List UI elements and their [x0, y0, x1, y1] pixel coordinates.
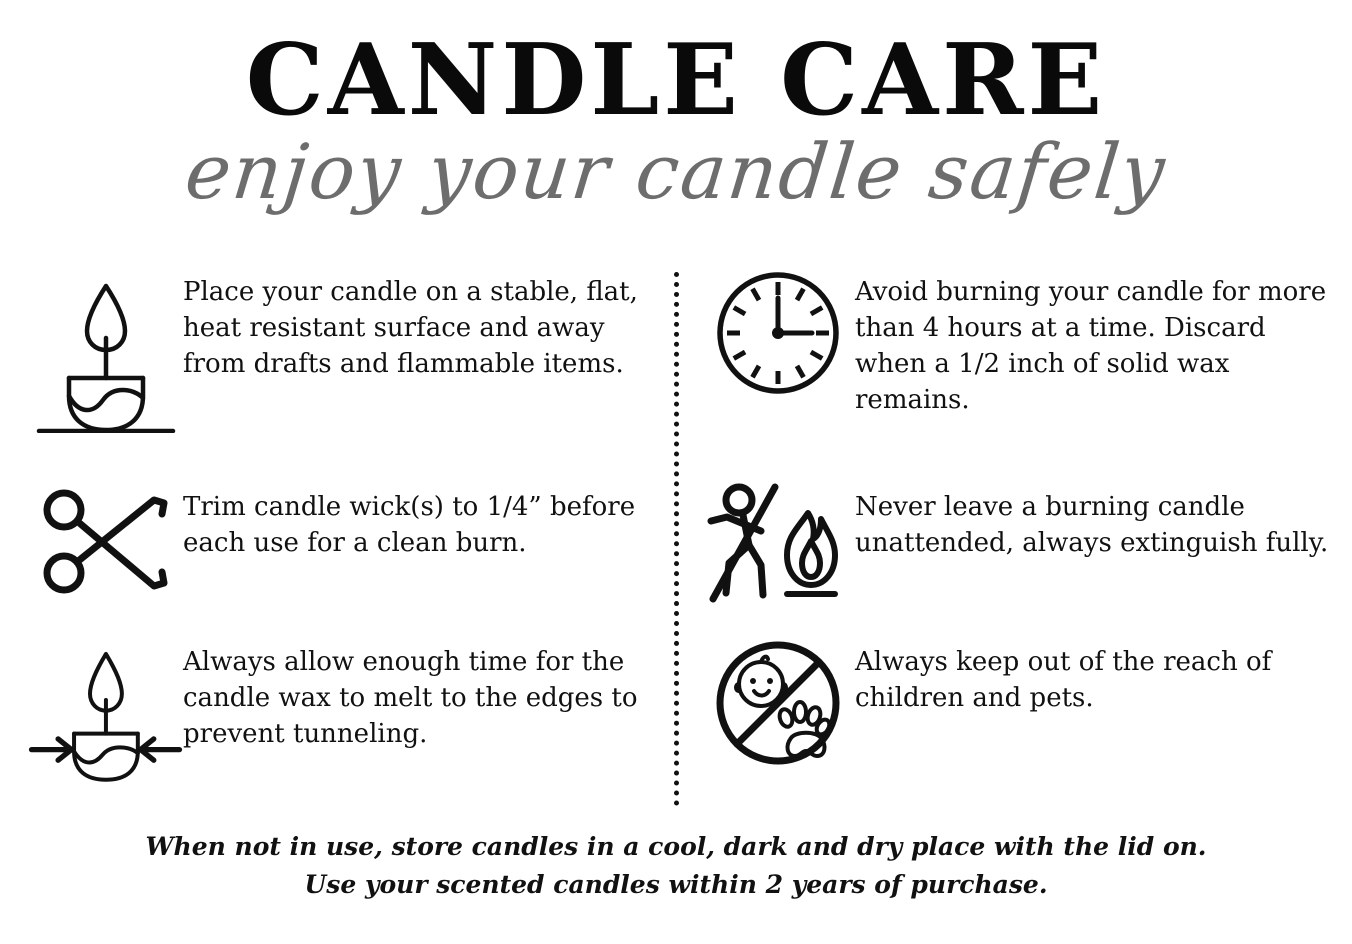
footer-line-1: When not in use, store candles in a cool… — [0, 828, 1352, 866]
tip-item: Always keep out of the reach of children… — [700, 638, 1340, 768]
tip-text: Place your candle on a stable, flat, hea… — [183, 268, 668, 382]
tip-text: Trim candle wick(s) to 1/4” before each … — [183, 483, 668, 561]
tip-item: Never leave a burning candle unattended,… — [700, 483, 1340, 603]
footer: When not in use, store candles in a cool… — [0, 828, 1352, 904]
candle-full-melt-arrows-icon — [28, 638, 183, 793]
tip-item: Avoid burning your candle for more than … — [700, 268, 1340, 418]
tips-section: Place your candle on a stable, flat, hea… — [0, 268, 1352, 808]
tip-text: Always keep out of the reach of children… — [855, 638, 1340, 716]
candle-care-infographic: CANDLE CARE enjoy your candle safely — [0, 0, 1352, 944]
scissors-icon — [28, 483, 183, 603]
candle-on-surface-icon — [28, 268, 183, 433]
page-title: CANDLE CARE — [0, 30, 1352, 133]
tip-text: Always allow enough time for the candle … — [183, 638, 668, 752]
person-leaving-fire-icon — [700, 483, 855, 603]
no-children-pets-icon — [700, 638, 855, 768]
footer-line-2: Use your scented candles within 2 years … — [0, 866, 1352, 904]
tip-text: Avoid burning your candle for more than … — [855, 268, 1340, 418]
tip-item: Always allow enough time for the candle … — [28, 638, 668, 793]
header: CANDLE CARE enjoy your candle safely — [0, 0, 1352, 250]
tip-item: Trim candle wick(s) to 1/4” before each … — [28, 483, 668, 603]
tips-column-right: Avoid burning your candle for more than … — [700, 268, 1340, 808]
clock-icon — [700, 268, 855, 398]
tips-column-left: Place your candle on a stable, flat, hea… — [28, 268, 668, 808]
tip-item: Place your candle on a stable, flat, hea… — [28, 268, 668, 433]
tip-text: Never leave a burning candle unattended,… — [855, 483, 1340, 561]
page-subtitle: enjoy your candle safely — [0, 128, 1352, 215]
